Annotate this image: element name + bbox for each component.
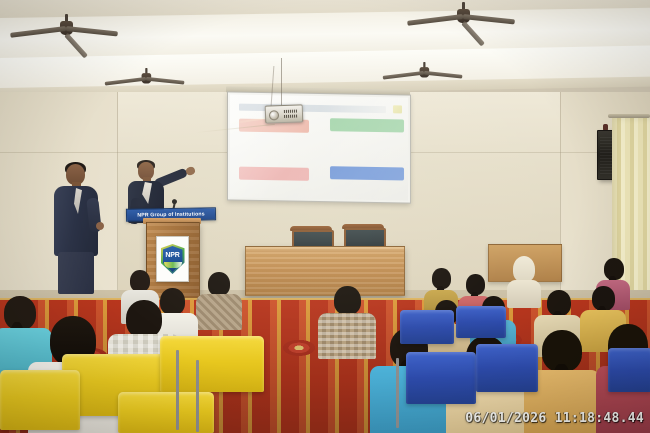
blue-plastic-chair <box>406 352 476 404</box>
slide-corner-graphic <box>393 105 402 113</box>
audience-member <box>318 286 376 356</box>
blue-plastic-chair <box>476 344 538 392</box>
projection-screen-surface <box>230 94 408 200</box>
shield-inner <box>163 246 183 272</box>
chair-leg <box>176 350 179 430</box>
projector-vent <box>284 115 298 118</box>
yellow-plastic-chair <box>0 370 80 430</box>
projector-lens <box>269 110 279 120</box>
projector-vent <box>284 110 298 113</box>
blue-plastic-chair <box>608 348 650 392</box>
projection-screen <box>227 91 411 203</box>
slide-box-bottom-left <box>239 167 309 181</box>
slide-box-top-right <box>330 118 404 132</box>
speaker-in-navy-suit <box>52 164 108 296</box>
slide-box-bottom-right <box>330 166 404 180</box>
podium-banner-text: NPR Group of Institutions <box>137 211 205 218</box>
person-head <box>126 300 162 338</box>
person-torso <box>318 313 376 359</box>
wall-corner-seam <box>117 92 118 300</box>
audience-member <box>196 272 242 328</box>
person-hand <box>96 222 104 230</box>
person-head <box>208 272 230 296</box>
shield-swoosh <box>164 262 182 268</box>
chair-leg <box>396 358 399 428</box>
seminar-hall-photo: NPR Group of Institutions NPR <box>0 0 650 433</box>
blue-plastic-chair <box>456 306 506 338</box>
podium-logo-plate: NPR <box>156 236 189 282</box>
person-head <box>334 286 361 315</box>
chair-leg <box>196 360 199 432</box>
blue-plastic-chair <box>400 310 454 344</box>
person-torso <box>196 294 242 330</box>
person-trousers <box>58 252 94 294</box>
npr-shield-logo: NPR <box>161 244 185 274</box>
person-head-covered <box>513 256 535 282</box>
projector-cable <box>281 58 282 106</box>
presenter-pointing-hand <box>185 166 196 176</box>
npr-logo-text: NPR <box>161 252 185 259</box>
camera-timestamp: 06/01/2026 11:18:48.44 <box>465 411 644 426</box>
slide-title <box>239 104 386 114</box>
ceiling-projector <box>265 104 304 123</box>
yellow-plastic-chair <box>118 392 214 433</box>
